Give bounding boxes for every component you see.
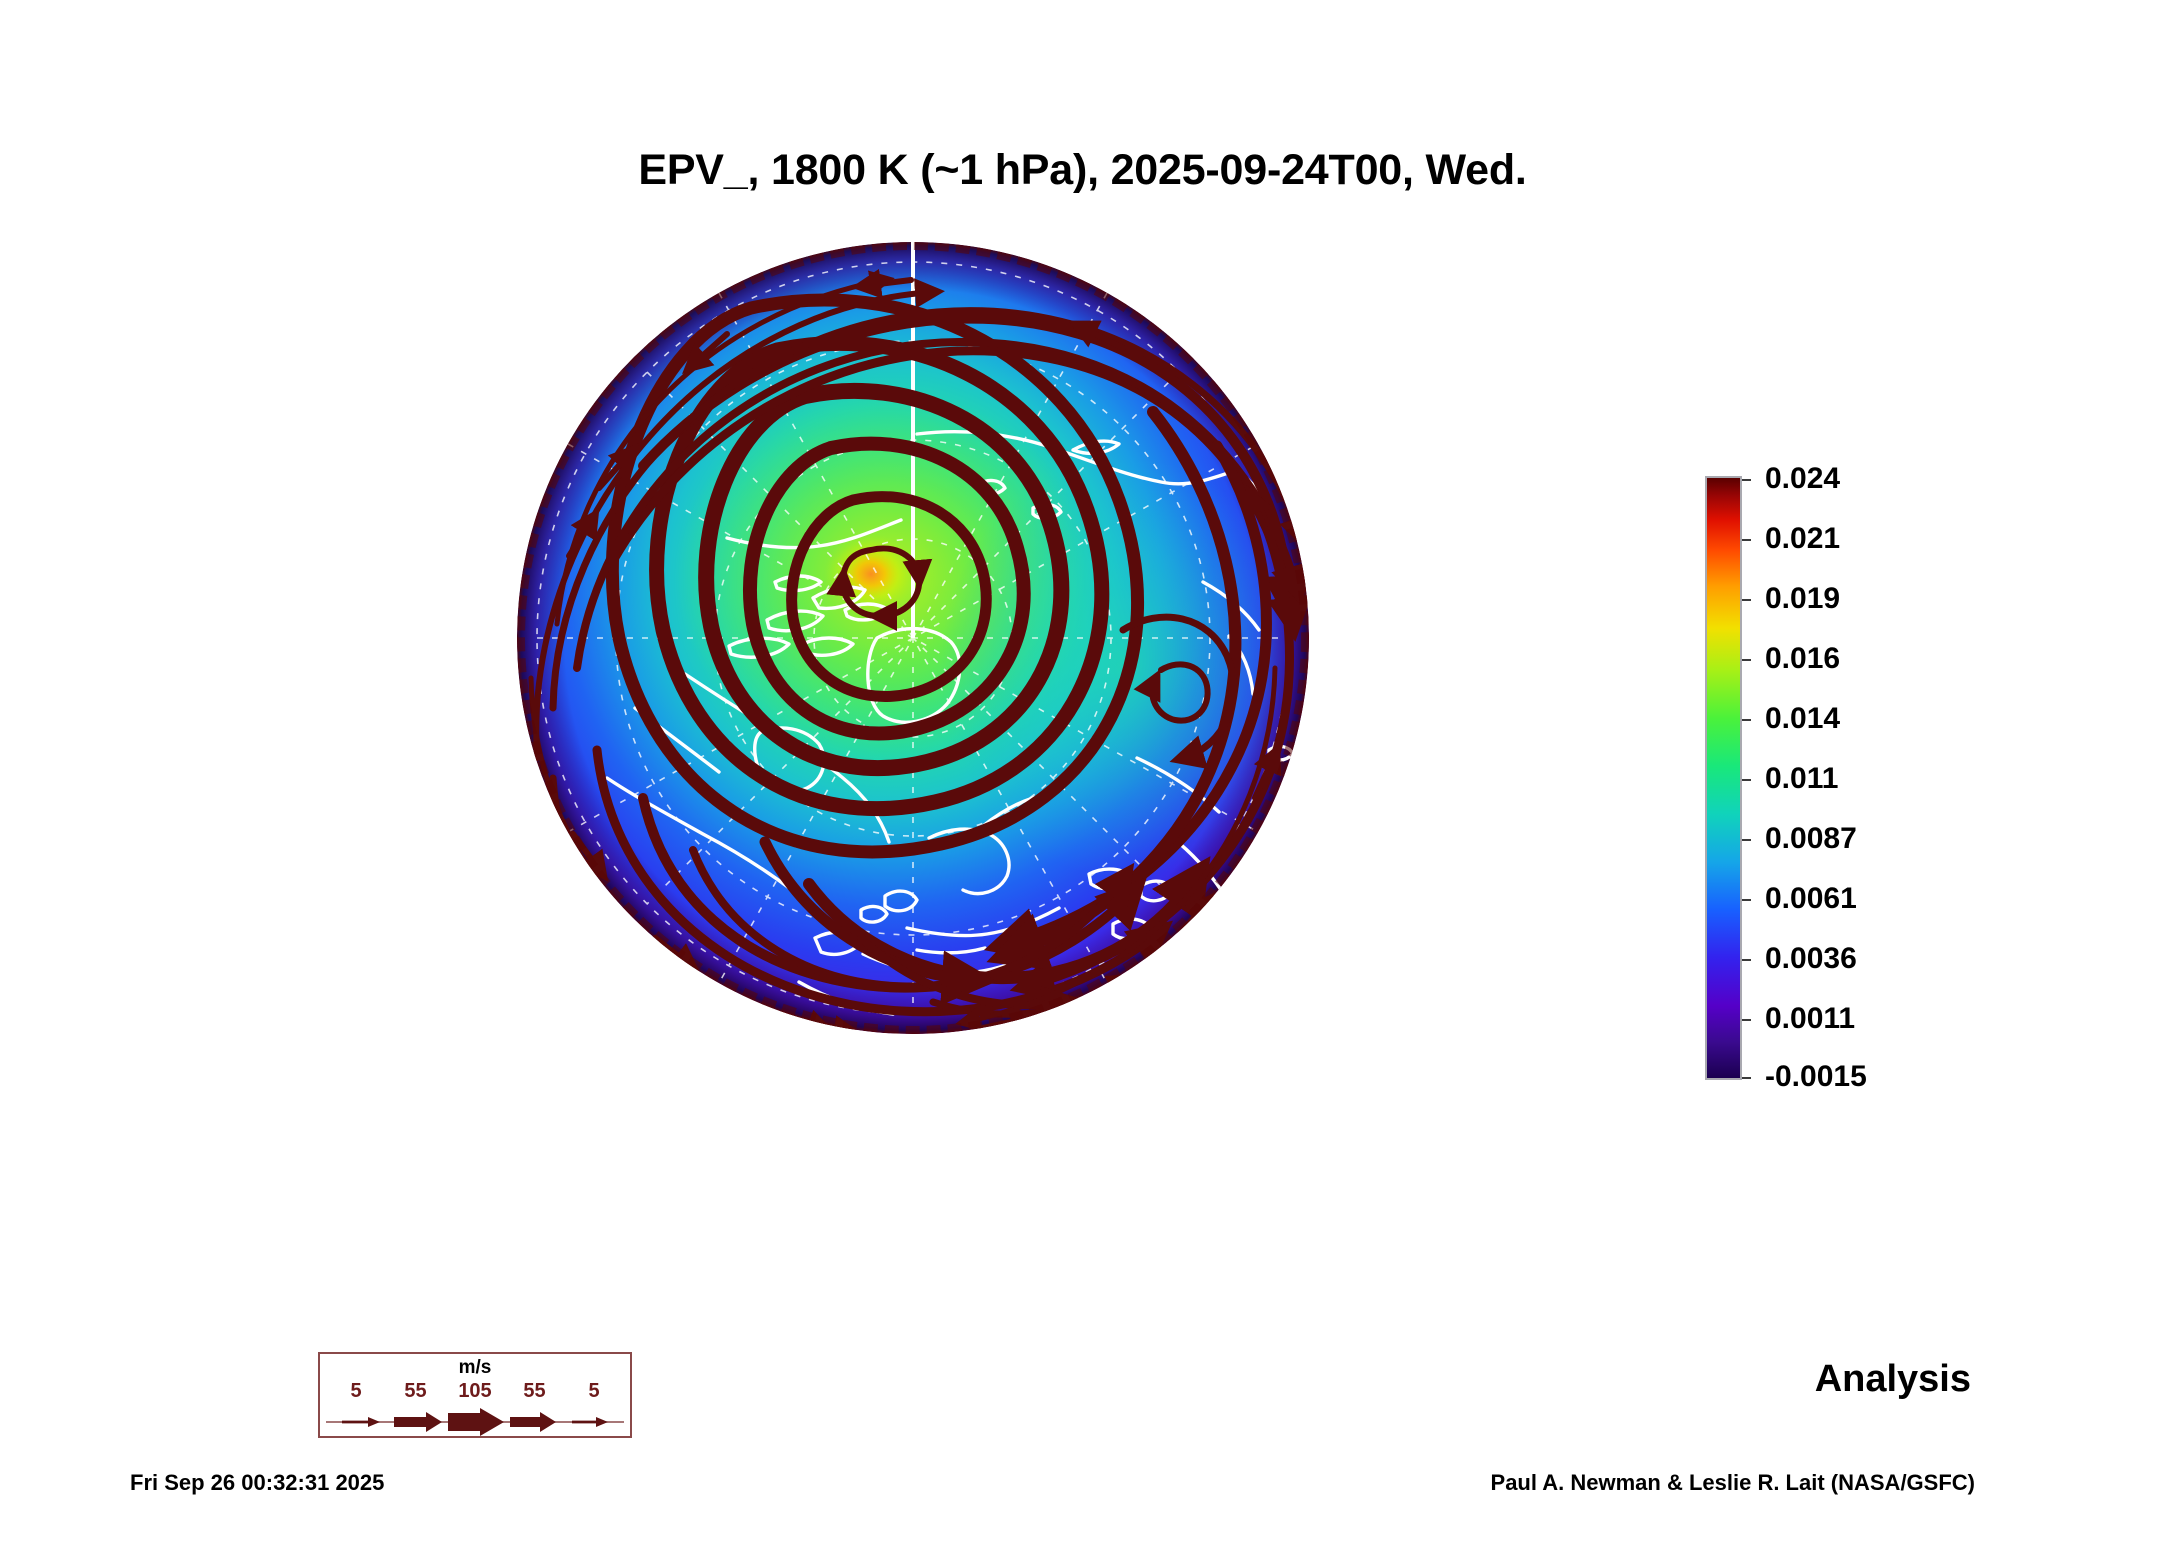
colorbar-label: 0.0061 — [1765, 882, 1857, 916]
wind-value: 5 — [328, 1380, 384, 1403]
colorbar-label: 0.0036 — [1765, 942, 1857, 976]
colorbar-label: 0.014 — [1765, 702, 1840, 736]
colorbar-label: 0.016 — [1765, 642, 1840, 676]
analysis-label: Analysis — [1815, 1358, 1971, 1401]
colorbar-tick — [1742, 659, 1751, 661]
page-title: EPV_, 1800 K (~1 hPa), 2025-09-24T00, We… — [0, 146, 2165, 195]
wind-value: 5 — [566, 1380, 622, 1403]
colorbar-tick — [1742, 899, 1751, 901]
author-credit: Paul A. Newman & Leslie R. Lait (NASA/GS… — [1491, 1470, 1975, 1496]
colorbar-label: 0.024 — [1765, 462, 1840, 496]
colorbar-tick — [1742, 479, 1751, 481]
wind-speed-legend: m/s 5 55 105 55 5 — [318, 1352, 632, 1438]
colorbar-tick — [1742, 959, 1751, 961]
wind-legend-values: 5 55 105 55 5 — [328, 1380, 622, 1403]
wind-value: 55 — [507, 1380, 563, 1403]
wind-value: 105 — [447, 1380, 503, 1403]
colorbar-label: 0.021 — [1765, 522, 1840, 556]
colorbar-label: 0.0011 — [1765, 1002, 1855, 1036]
wind-arrow-scale — [324, 1408, 626, 1436]
colorbar-tick — [1742, 599, 1751, 601]
colorbar-label: -0.0015 — [1765, 1060, 1867, 1094]
colorbar-label: 0.019 — [1765, 582, 1840, 616]
generation-timestamp: Fri Sep 26 00:32:31 2025 — [130, 1470, 384, 1496]
colorbar-tick — [1742, 719, 1751, 721]
colorbar-tick — [1742, 839, 1751, 841]
colorbar-label: 0.011 — [1765, 762, 1838, 796]
colorbar-tick — [1742, 1077, 1751, 1079]
wind-units-label: m/s — [320, 1357, 630, 1379]
colorbar-tick — [1742, 539, 1751, 541]
colorbar-tick — [1742, 779, 1751, 781]
colorbar: 0.024 0.021 0.019 0.016 0.014 0.011 0.00… — [1705, 476, 1955, 1086]
colorbar-label: 0.0087 — [1765, 822, 1857, 856]
globe-field — [517, 242, 1310, 1034]
polar-map — [513, 238, 1313, 1038]
colorbar-tick — [1742, 1019, 1751, 1021]
colorbar-gradient — [1705, 476, 1742, 1080]
wind-value: 55 — [388, 1380, 444, 1403]
